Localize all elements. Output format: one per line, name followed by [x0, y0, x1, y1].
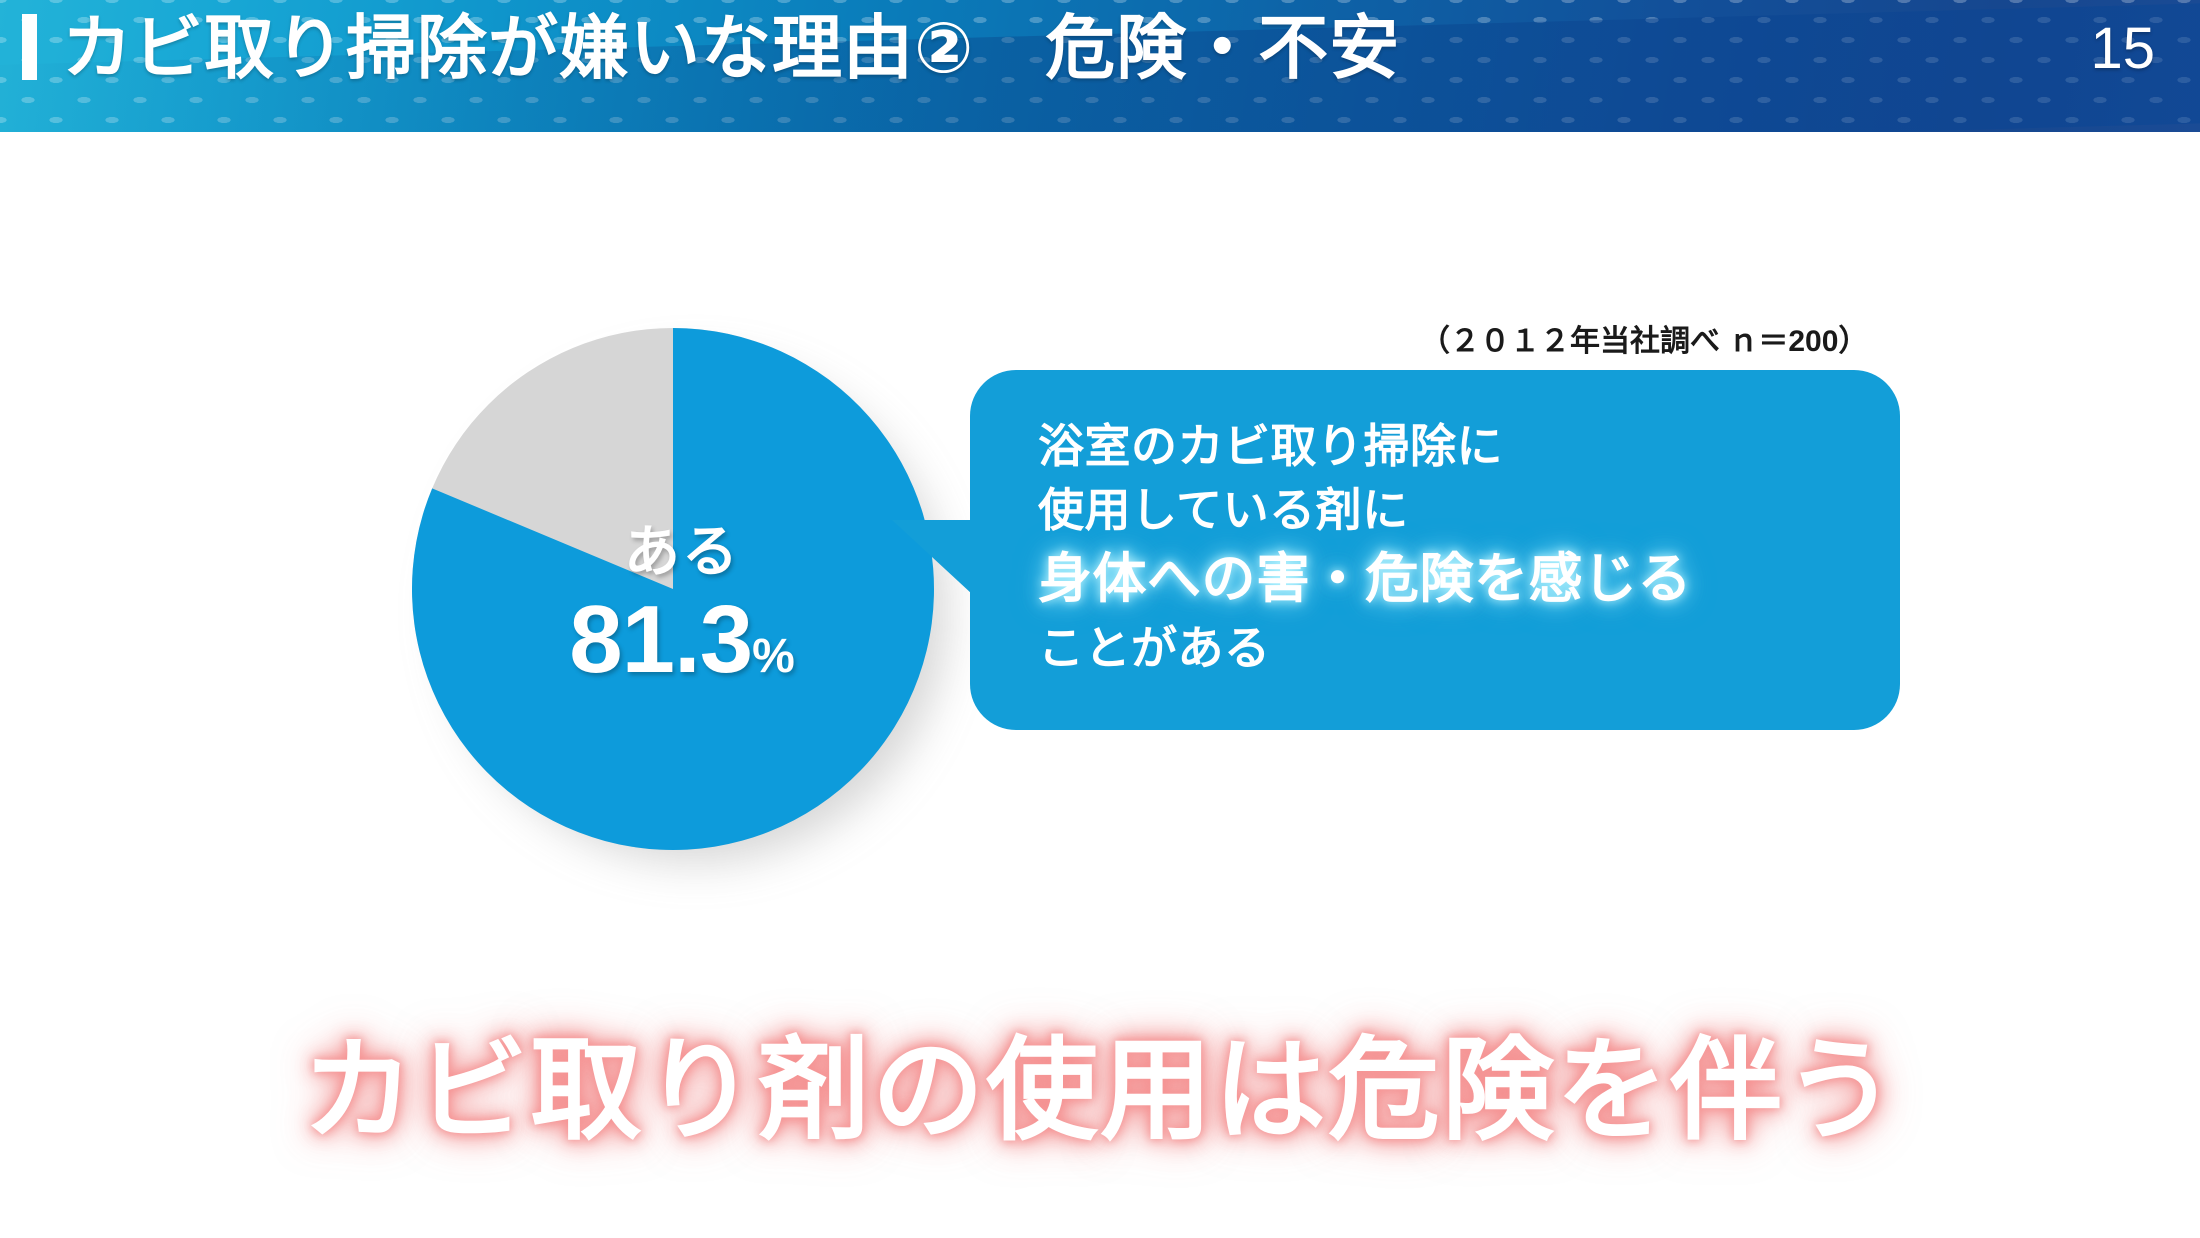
callout-line-2: 使用している剤に	[1038, 478, 1878, 542]
pie-chart-svg	[412, 328, 952, 868]
slide-header: カビ取り掃除が嫌いな理由② 危険・不安 15	[0, 0, 2200, 132]
callout-text-block: 浴室のカビ取り掃除に 使用している剤に 身体への害・危険を感じる ことがある	[1038, 414, 1878, 680]
page-number: 15	[2090, 10, 2155, 88]
bottom-headline: カビ取り剤の使用は危険を伴う	[0, 1000, 2200, 1162]
slide-canvas: カビ取り掃除が嫌いな理由② 危険・不安 15 （２０１２年当社調べ ｎ＝200）…	[0, 0, 2200, 1238]
callout-line-3-emphasis: 身体への害・危険を感じる	[1038, 542, 1878, 616]
page-title: カビ取り掃除が嫌いな理由② 危険・不安	[62, 5, 1400, 91]
callout-balloon: 浴室のカビ取り掃除に 使用している剤に 身体への害・危険を感じる ことがある	[970, 370, 1900, 730]
title-accent-bar	[22, 14, 37, 80]
survey-source-note: （２０１２年当社調べ ｎ＝200）	[1420, 316, 1868, 360]
callout-line-4: ことがある	[1038, 616, 1878, 680]
pie-chart: ある 81.3%	[412, 328, 952, 868]
callout-tail-pointer	[892, 520, 972, 594]
callout-line-1: 浴室のカビ取り掃除に	[1038, 414, 1878, 478]
